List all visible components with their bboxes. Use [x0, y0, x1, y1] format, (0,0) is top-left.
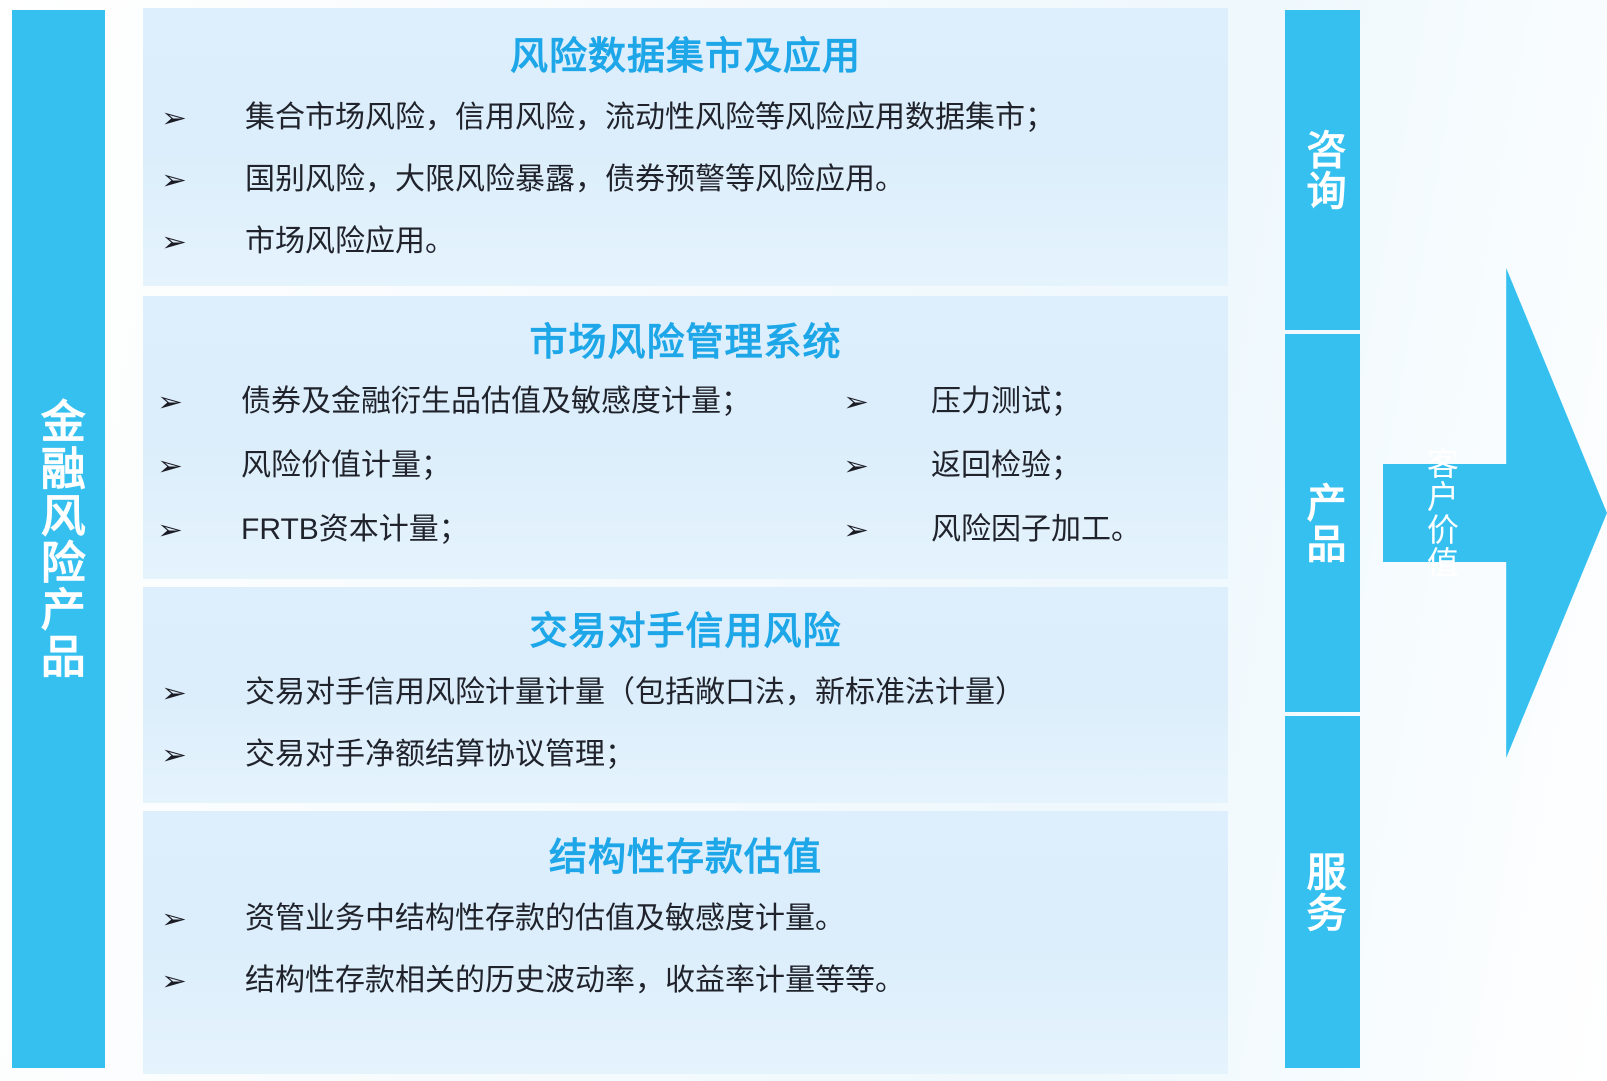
- bullet-list: ➢ 资管业务中结构性存款的估值及敏感度计量。 ➢ 结构性存款相关的历史波动率，收…: [143, 899, 1228, 1023]
- section-risk-data-mart: 风险数据集市及应用 ➢ 集合市场风险，信用风险，流动性风险等风险应用数据集市； …: [143, 8, 1228, 286]
- list-item: ➢ 债券及金融衍生品估值及敏感度计量；: [143, 382, 843, 446]
- list-item: ➢ 返回检验；: [843, 446, 1228, 510]
- list-item-label: 债券及金融衍生品估值及敏感度计量；: [241, 382, 751, 422]
- list-item: ➢ 风险价值计量；: [143, 446, 843, 510]
- main-content-column: 风险数据集市及应用 ➢ 集合市场风险，信用风险，流动性风险等风险应用数据集市； …: [143, 8, 1228, 1074]
- list-item: ➢ 资管业务中结构性存款的估值及敏感度计量。: [143, 899, 1228, 961]
- bullet-two-column-layout: ➢ 债券及金融衍生品估值及敏感度计量； ➢ 风险价值计量； ➢ FRTB资本计量…: [143, 382, 1228, 574]
- list-item-label: 集合市场风险，信用风险，流动性风险等风险应用数据集市；: [245, 98, 1055, 138]
- stage-label: 服务: [1302, 851, 1344, 933]
- arrow-bullet-icon: ➢: [159, 160, 189, 200]
- list-item-label: 市场风险应用。: [245, 222, 455, 262]
- stage-column: 咨询 产品 服务: [1285, 10, 1360, 1068]
- section-market-risk-system: 市场风险管理系统 ➢ 债券及金融衍生品估值及敏感度计量； ➢ 风险价值计量； ➢…: [143, 296, 1228, 579]
- arrow-bullet-icon: ➢: [159, 899, 189, 939]
- slide-canvas: 金融风险产品 风险数据集市及应用 ➢ 集合市场风险，信用风险，流动性风险等风险应…: [0, 0, 1607, 1081]
- list-item-label: 国别风险，大限风险暴露，债券预警等风险应用。: [245, 160, 905, 200]
- section-structured-deposit-valuation: 结构性存款估值 ➢ 资管业务中结构性存款的估值及敏感度计量。 ➢ 结构性存款相关…: [143, 811, 1228, 1074]
- list-item: ➢ 结构性存款相关的历史波动率，收益率计量等等。: [143, 961, 1228, 1023]
- arrow-bullet-icon: ➢: [155, 510, 185, 550]
- list-item-label: 风险价值计量；: [241, 446, 451, 486]
- bullet-list-left: ➢ 债券及金融衍生品估值及敏感度计量； ➢ 风险价值计量； ➢ FRTB资本计量…: [143, 382, 843, 574]
- list-item: ➢ 市场风险应用。: [143, 222, 1228, 284]
- section-counterparty-credit-risk: 交易对手信用风险 ➢ 交易对手信用风险计量计量（包括敞口法，新标准法计量） ➢ …: [143, 587, 1228, 803]
- list-item-label: 资管业务中结构性存款的估值及敏感度计量。: [245, 899, 845, 939]
- list-item: ➢ 风险因子加工。: [843, 510, 1228, 574]
- list-item-label: 风险因子加工。: [931, 510, 1141, 550]
- left-title-bar-label: 金融风险产品: [34, 398, 83, 680]
- arrow-bullet-icon: ➢: [159, 735, 189, 775]
- section-title: 结构性存款估值: [143, 811, 1228, 877]
- customer-value-arrow: 客户价值: [1383, 268, 1607, 758]
- list-item-label: FRTB资本计量；: [241, 510, 469, 550]
- list-item-label: 结构性存款相关的历史波动率，收益率计量等等。: [245, 961, 905, 1001]
- bullet-list-right: ➢ 压力测试； ➢ 返回检验； ➢ 风险因子加工。: [843, 382, 1228, 574]
- list-item: ➢ 国别风险，大限风险暴露，债券预警等风险应用。: [143, 160, 1228, 222]
- arrow-bullet-icon: ➢: [159, 98, 189, 138]
- list-item-label: 交易对手净额结算协议管理；: [245, 735, 635, 775]
- list-item-label: 压力测试；: [931, 382, 1081, 422]
- stage-block-service: 服务: [1285, 716, 1360, 1068]
- stage-block-consulting: 咨询: [1285, 10, 1360, 330]
- list-item: ➢ FRTB资本计量；: [143, 510, 843, 574]
- arrow-bullet-icon: ➢: [159, 673, 189, 713]
- arrow-bullet-icon: ➢: [841, 510, 871, 550]
- arrow-bullet-icon: ➢: [155, 382, 185, 422]
- section-title: 交易对手信用风险: [143, 587, 1228, 651]
- arrow-bullet-icon: ➢: [159, 222, 189, 262]
- left-title-bar: 金融风险产品: [12, 10, 105, 1068]
- arrow-bullet-icon: ➢: [841, 446, 871, 486]
- bullet-list: ➢ 集合市场风险，信用风险，流动性风险等风险应用数据集市； ➢ 国别风险，大限风…: [143, 98, 1228, 284]
- list-item: ➢ 交易对手净额结算协议管理；: [143, 735, 1228, 797]
- stage-block-product: 产品: [1285, 334, 1360, 712]
- arrow-bullet-icon: ➢: [841, 382, 871, 422]
- list-item: ➢ 压力测试；: [843, 382, 1228, 446]
- list-item-label: 返回检验；: [931, 446, 1081, 486]
- stage-label: 产品: [1302, 482, 1344, 564]
- arrow-bullet-icon: ➢: [159, 961, 189, 1001]
- list-item-label: 交易对手信用风险计量计量（包括敞口法，新标准法计量）: [245, 673, 1025, 713]
- stage-label: 咨询: [1302, 129, 1344, 211]
- section-title: 风险数据集市及应用: [143, 8, 1228, 76]
- bullet-list: ➢ 交易对手信用风险计量计量（包括敞口法，新标准法计量） ➢ 交易对手净额结算协…: [143, 673, 1228, 797]
- section-title: 市场风险管理系统: [143, 296, 1228, 362]
- customer-value-arrow-label: 客户价值: [1405, 447, 1475, 579]
- arrow-bullet-icon: ➢: [155, 446, 185, 486]
- list-item: ➢ 交易对手信用风险计量计量（包括敞口法，新标准法计量）: [143, 673, 1228, 735]
- list-item: ➢ 集合市场风险，信用风险，流动性风险等风险应用数据集市；: [143, 98, 1228, 160]
